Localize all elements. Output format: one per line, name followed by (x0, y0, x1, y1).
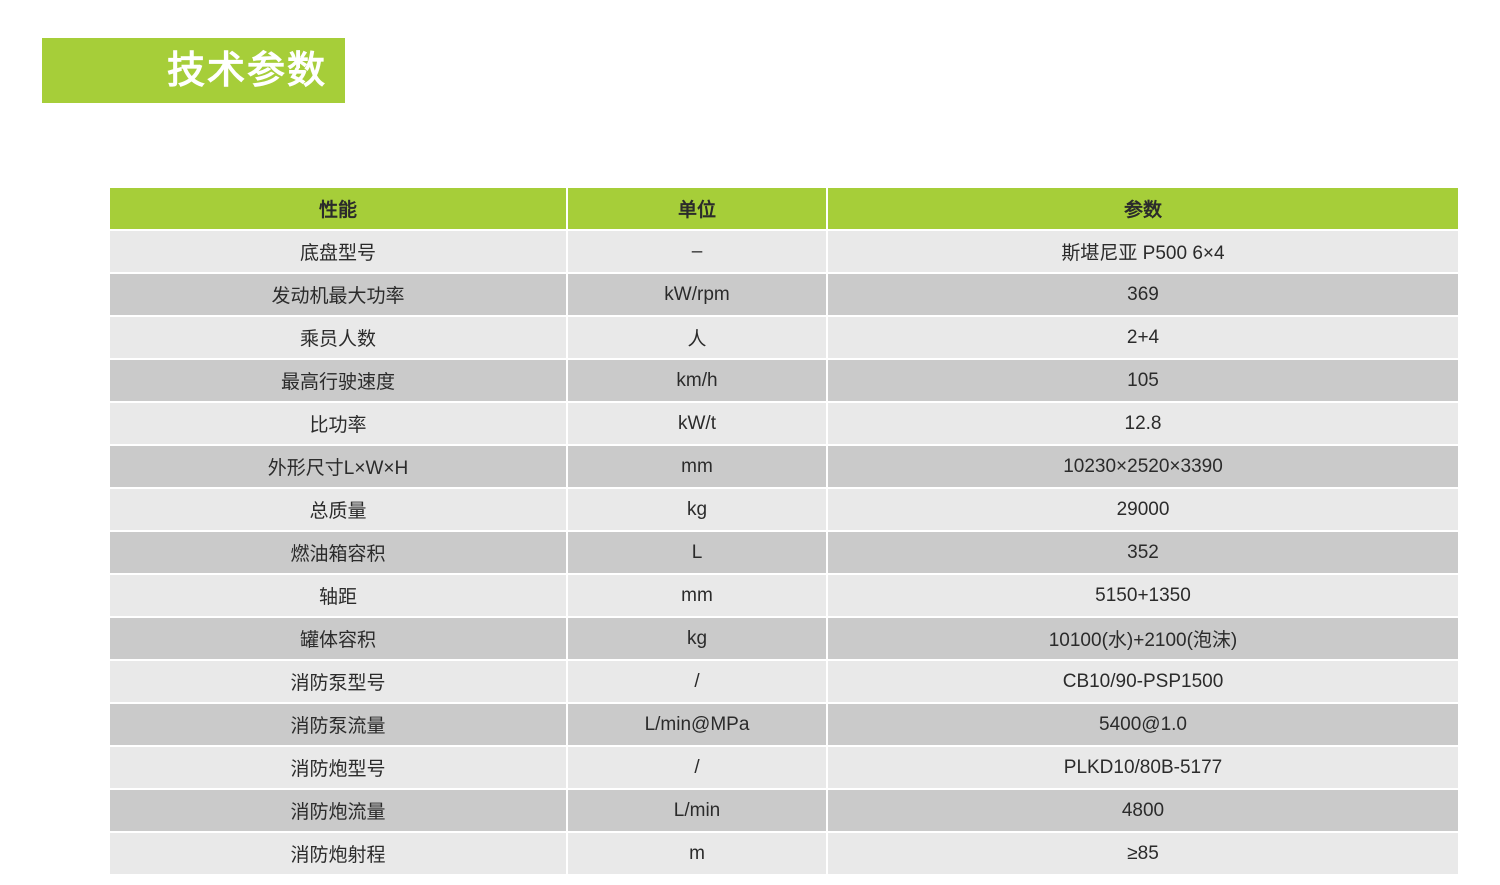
cell-unit: kg (568, 489, 828, 532)
cell-unit: mm (568, 575, 828, 618)
table-row: 最高行驶速度km/h105 (110, 360, 1458, 403)
table-row: 乘员人数人2+4 (110, 317, 1458, 360)
cell-parameter: 5400@1.0 (828, 704, 1458, 747)
table-row: 燃油箱容积L352 (110, 532, 1458, 575)
cell-performance: 消防泵流量 (110, 704, 568, 747)
cell-unit: mm (568, 446, 828, 489)
cell-unit: – (568, 231, 828, 274)
cell-parameter: 352 (828, 532, 1458, 575)
column-header-performance: 性能 (110, 188, 568, 231)
cell-unit: kg (568, 618, 828, 661)
table-row: 消防泵流量L/min@MPa5400@1.0 (110, 704, 1458, 747)
section-title-banner: 技术参数 (42, 38, 345, 103)
cell-unit: m (568, 833, 828, 874)
cell-unit: km/h (568, 360, 828, 403)
cell-unit: kW/rpm (568, 274, 828, 317)
table-header: 性能 单位 参数 (110, 188, 1458, 231)
cell-parameter: 5150+1350 (828, 575, 1458, 618)
cell-parameter: PLKD10/80B-5177 (828, 747, 1458, 790)
spec-table-container: 性能 单位 参数 底盘型号–斯堪尼亚 P500 6×4发动机最大功率kW/rpm… (110, 188, 1458, 874)
table-row: 消防泵型号/CB10/90-PSP1500 (110, 661, 1458, 704)
cell-performance: 底盘型号 (110, 231, 568, 274)
cell-performance: 罐体容积 (110, 618, 568, 661)
cell-performance: 消防泵型号 (110, 661, 568, 704)
cell-performance: 比功率 (110, 403, 568, 446)
cell-parameter: ≥85 (828, 833, 1458, 874)
cell-performance: 消防炮型号 (110, 747, 568, 790)
cell-performance: 发动机最大功率 (110, 274, 568, 317)
cell-parameter: 105 (828, 360, 1458, 403)
cell-unit: L/min (568, 790, 828, 833)
cell-unit: L (568, 532, 828, 575)
table-row: 消防炮流量L/min4800 (110, 790, 1458, 833)
page-title: 技术参数 (167, 52, 327, 90)
cell-performance: 乘员人数 (110, 317, 568, 360)
cell-parameter: 2+4 (828, 317, 1458, 360)
column-header-unit: 单位 (568, 188, 828, 231)
cell-parameter: 10100(水)+2100(泡沫) (828, 618, 1458, 661)
cell-performance: 最高行驶速度 (110, 360, 568, 403)
table-body: 底盘型号–斯堪尼亚 P500 6×4发动机最大功率kW/rpm369乘员人数人2… (110, 231, 1458, 874)
cell-performance: 外形尺寸L×W×H (110, 446, 568, 489)
cell-unit: / (568, 661, 828, 704)
table-row: 总质量kg29000 (110, 489, 1458, 532)
cell-parameter: 369 (828, 274, 1458, 317)
cell-performance: 消防炮射程 (110, 833, 568, 874)
cell-parameter: 12.8 (828, 403, 1458, 446)
cell-performance: 燃油箱容积 (110, 532, 568, 575)
cell-parameter: CB10/90-PSP1500 (828, 661, 1458, 704)
table-row: 底盘型号–斯堪尼亚 P500 6×4 (110, 231, 1458, 274)
table-row: 比功率kW/t12.8 (110, 403, 1458, 446)
cell-performance: 总质量 (110, 489, 568, 532)
cell-parameter: 4800 (828, 790, 1458, 833)
table-row: 消防炮型号/PLKD10/80B-5177 (110, 747, 1458, 790)
cell-parameter: 29000 (828, 489, 1458, 532)
table-row: 外形尺寸L×W×Hmm10230×2520×3390 (110, 446, 1458, 489)
cell-performance: 轴距 (110, 575, 568, 618)
cell-parameter: 斯堪尼亚 P500 6×4 (828, 231, 1458, 274)
table-row: 消防炮射程m≥85 (110, 833, 1458, 874)
table-row: 轴距mm5150+1350 (110, 575, 1458, 618)
cell-unit: 人 (568, 317, 828, 360)
table-row: 发动机最大功率kW/rpm369 (110, 274, 1458, 317)
cell-parameter: 10230×2520×3390 (828, 446, 1458, 489)
column-header-parameter: 参数 (828, 188, 1458, 231)
cell-unit: kW/t (568, 403, 828, 446)
table-header-row: 性能 单位 参数 (110, 188, 1458, 231)
table-row: 罐体容积kg10100(水)+2100(泡沫) (110, 618, 1458, 661)
cell-performance: 消防炮流量 (110, 790, 568, 833)
technical-parameters-table: 性能 单位 参数 底盘型号–斯堪尼亚 P500 6×4发动机最大功率kW/rpm… (110, 188, 1458, 874)
cell-unit: / (568, 747, 828, 790)
cell-unit: L/min@MPa (568, 704, 828, 747)
